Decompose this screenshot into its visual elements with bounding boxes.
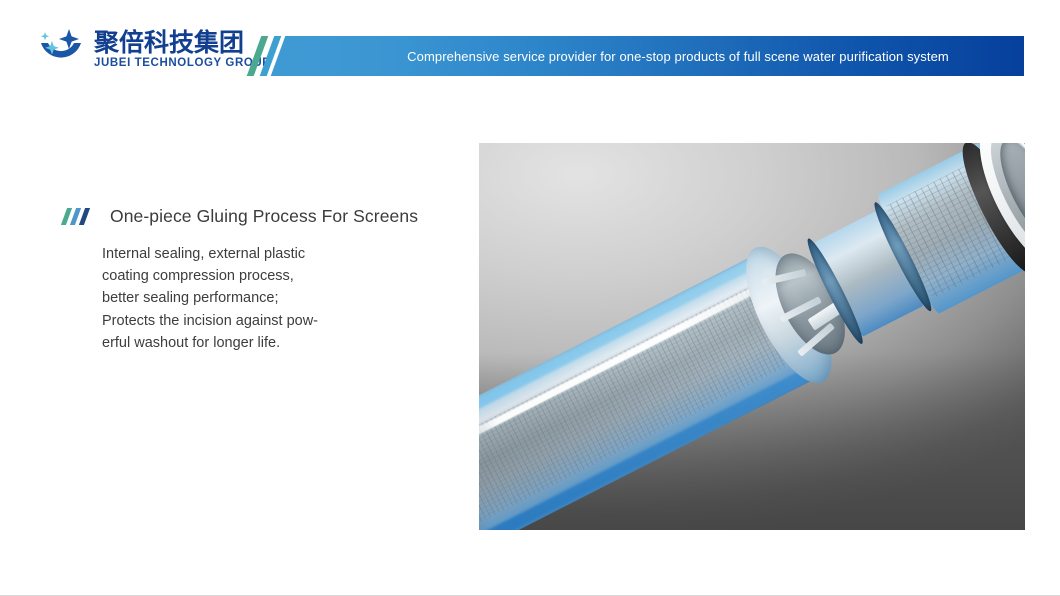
description-line: Internal sealing, external plastic xyxy=(102,243,348,265)
section-heading: One-piece Gluing Process For Screens xyxy=(64,206,444,227)
description-line: coating compression process, xyxy=(102,265,348,287)
page-title: One-piece Gluing Process For Screens xyxy=(110,206,418,227)
logo-wordmark: 聚倍科技集团 JUBEI TECHNOLOGY GROUP xyxy=(94,30,271,70)
description-paragraph: Internal sealing, external plastic coati… xyxy=(102,243,348,354)
company-logo[interactable]: 聚倍科技集团 JUBEI TECHNOLOGY GROUP xyxy=(36,27,271,73)
heading-accent-bar-3 xyxy=(79,208,90,225)
banner-tagline: Comprehensive service provider for one-s… xyxy=(367,49,949,64)
sparkle-crescent-logo-icon xyxy=(36,27,86,73)
banner-bar: Comprehensive service provider for one-s… xyxy=(292,36,1024,76)
description-line: Protects the incision against pow- xyxy=(102,310,348,332)
description-line: erful washout for longer life. xyxy=(102,332,348,354)
slide: 聚倍科技集团 JUBEI TECHNOLOGY GROUP Comprehens… xyxy=(0,0,1060,596)
description-line: better sealing performance; xyxy=(102,287,348,309)
product-image xyxy=(479,143,1025,530)
page-header: 聚倍科技集团 JUBEI TECHNOLOGY GROUP Comprehens… xyxy=(0,0,1060,96)
heading-accent-bars-icon xyxy=(64,208,96,225)
logo-english-name: JUBEI TECHNOLOGY GROUP xyxy=(94,58,271,70)
header-banner: Comprehensive service provider for one-s… xyxy=(252,36,1024,76)
logo-chinese-name: 聚倍科技集团 xyxy=(94,30,271,55)
content-left: One-piece Gluing Process For Screens Int… xyxy=(64,206,444,354)
